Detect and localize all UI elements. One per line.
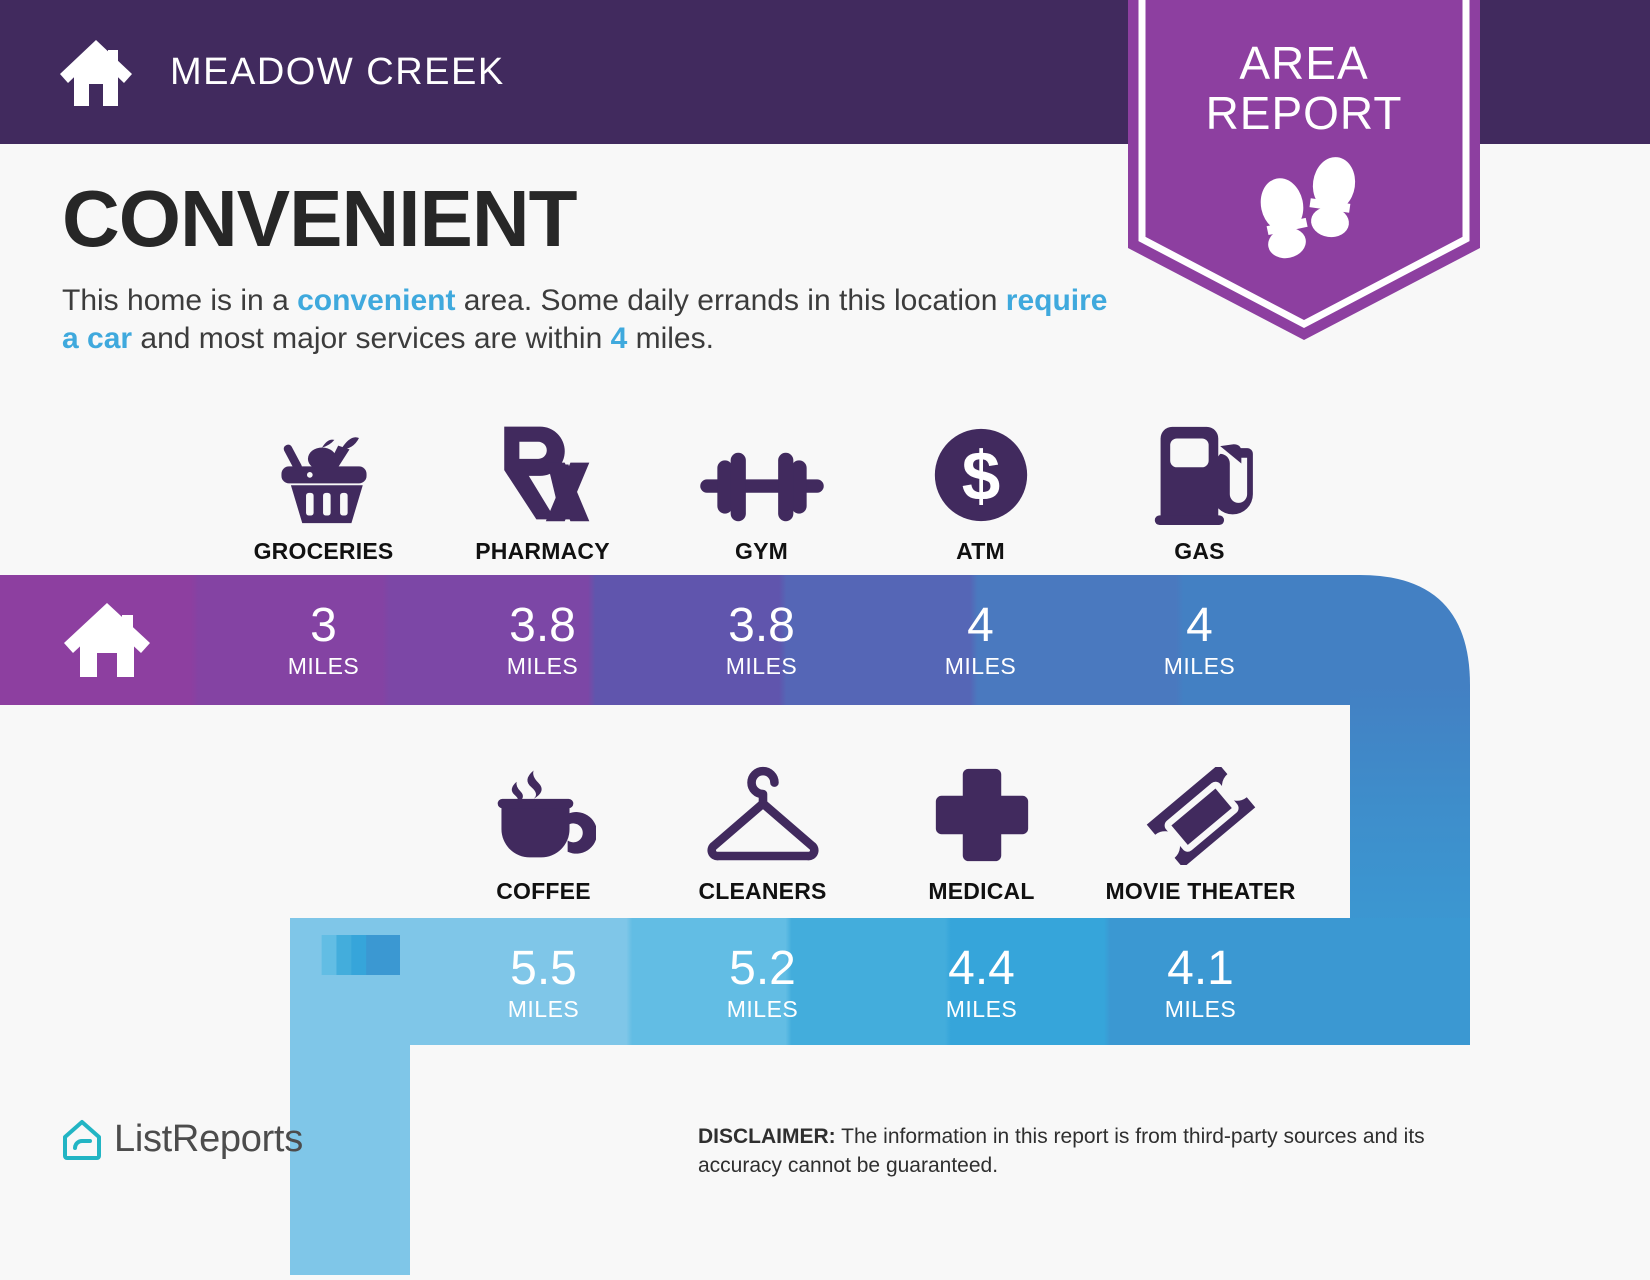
movie-ticket-icon — [1146, 765, 1256, 865]
category-medical: MEDICAL — [872, 750, 1091, 905]
category-coffee: COFFEE — [434, 750, 653, 905]
hero-section: CONVENIENT This home is in a convenient … — [62, 178, 1112, 358]
distance-unit: MILES — [508, 996, 580, 1022]
home-icon — [62, 601, 152, 679]
hero-highlight-3: 4 — [611, 322, 628, 355]
distance-unit: MILES — [945, 653, 1017, 679]
hero-text-2: area. Some daily errands in this locatio… — [455, 284, 1005, 317]
category-cleaners: CLEANERS — [653, 750, 872, 905]
distance-unit: MILES — [1165, 996, 1237, 1022]
distance-unit: MILES — [288, 653, 360, 679]
category-label: GAS — [1174, 538, 1224, 565]
category-label: MEDICAL — [928, 878, 1034, 905]
badge-title: AREA REPORT — [1128, 38, 1480, 138]
category-label: GROCERIES — [254, 538, 394, 565]
distance-unit: MILES — [507, 653, 579, 679]
distance-cell: 4 MILES — [1090, 575, 1309, 705]
hero-text-4: miles. — [627, 322, 714, 355]
distance-cell: 5.5 MILES — [434, 918, 653, 1048]
grocery-basket-icon — [272, 425, 376, 525]
row1-icon-strip: GROCERIES PHARMACY — [214, 420, 1310, 565]
distance-value: 3.8 — [728, 601, 795, 651]
row2-icon-strip: COFFEE CLEANERS MEDICAL — [434, 750, 1310, 905]
category-gym: GYM — [652, 420, 871, 565]
distance-unit: MILES — [946, 996, 1018, 1022]
category-label: GYM — [735, 538, 788, 565]
area-report-badge: AREA REPORT — [1128, 0, 1480, 340]
distance-value: 5.2 — [729, 944, 796, 994]
distance-value: 4 — [967, 601, 994, 651]
badge-line-1: AREA — [1128, 38, 1480, 88]
distance-cell: 3.8 MILES — [652, 575, 871, 705]
distance-cell: 3.8 MILES — [433, 575, 652, 705]
distance-unit: MILES — [727, 996, 799, 1022]
distance-value: 3 — [310, 601, 337, 651]
infographic-page: MEADOW CREEK AREA REPORT CONVENIENT This… — [0, 0, 1650, 1275]
category-label: CLEANERS — [698, 878, 826, 905]
distance-unit: MILES — [1164, 653, 1236, 679]
distance-cell: 4.4 MILES — [872, 918, 1091, 1048]
listreports-wordmark: ListReports — [114, 1118, 303, 1161]
listreports-home-icon — [62, 1119, 102, 1161]
distance-cell: 4 MILES — [871, 575, 1090, 705]
distance-value: 4 — [1186, 601, 1213, 651]
category-label: COFFEE — [496, 878, 590, 905]
category-atm: $ ATM — [871, 420, 1090, 565]
rx-icon — [491, 425, 595, 525]
coffee-cup-icon — [492, 765, 596, 865]
hero-description: This home is in a convenient area. Some … — [62, 282, 1112, 358]
badge-line-2: REPORT — [1128, 88, 1480, 138]
distance-value: 4.1 — [1167, 944, 1234, 994]
medical-cross-icon — [932, 765, 1032, 865]
gas-pump-icon — [1147, 425, 1253, 525]
hero-highlight-1: convenient — [297, 284, 455, 317]
category-pharmacy: PHARMACY — [433, 420, 652, 565]
home-position-marker — [0, 575, 214, 705]
category-groceries: GROCERIES — [214, 420, 433, 565]
home-icon — [58, 36, 134, 108]
distance-unit: MILES — [726, 653, 798, 679]
distance-cell: 3 MILES — [214, 575, 433, 705]
clothes-hanger-icon — [701, 765, 825, 865]
property-name: MEADOW CREEK — [170, 51, 505, 94]
svg-text:$: $ — [961, 437, 1000, 515]
distance-value: 4.4 — [948, 944, 1015, 994]
row1-distance-values: 3 MILES 3.8 MILES 3.8 MILES 4 MILES 4 MI… — [214, 575, 1310, 705]
distance-cell: 5.2 MILES — [653, 918, 872, 1048]
hero-text-1: This home is in a — [62, 284, 297, 317]
hero-text-3: and most major services are within — [132, 322, 611, 355]
category-gas: GAS — [1090, 420, 1309, 565]
disclaimer: DISCLAIMER: The information in this repo… — [698, 1122, 1508, 1180]
disclaimer-label: DISCLAIMER: — [698, 1125, 836, 1148]
dollar-circle-icon: $ — [931, 425, 1031, 525]
category-label: MOVIE THEATER — [1105, 878, 1295, 905]
row2-distance-values: 5.5 MILES 5.2 MILES 4.4 MILES 4.1 MILES — [434, 918, 1310, 1048]
dumbbell-icon — [700, 425, 824, 525]
page-title: CONVENIENT — [62, 178, 1112, 260]
distance-value: 5.5 — [510, 944, 577, 994]
distance-value: 3.8 — [509, 601, 576, 651]
listreports-logo: ListReports — [62, 1118, 303, 1161]
distance-cell: 4.1 MILES — [1091, 918, 1310, 1048]
category-movie-theater: MOVIE THEATER — [1091, 750, 1310, 905]
category-label: PHARMACY — [475, 538, 610, 565]
category-label: ATM — [956, 538, 1005, 565]
